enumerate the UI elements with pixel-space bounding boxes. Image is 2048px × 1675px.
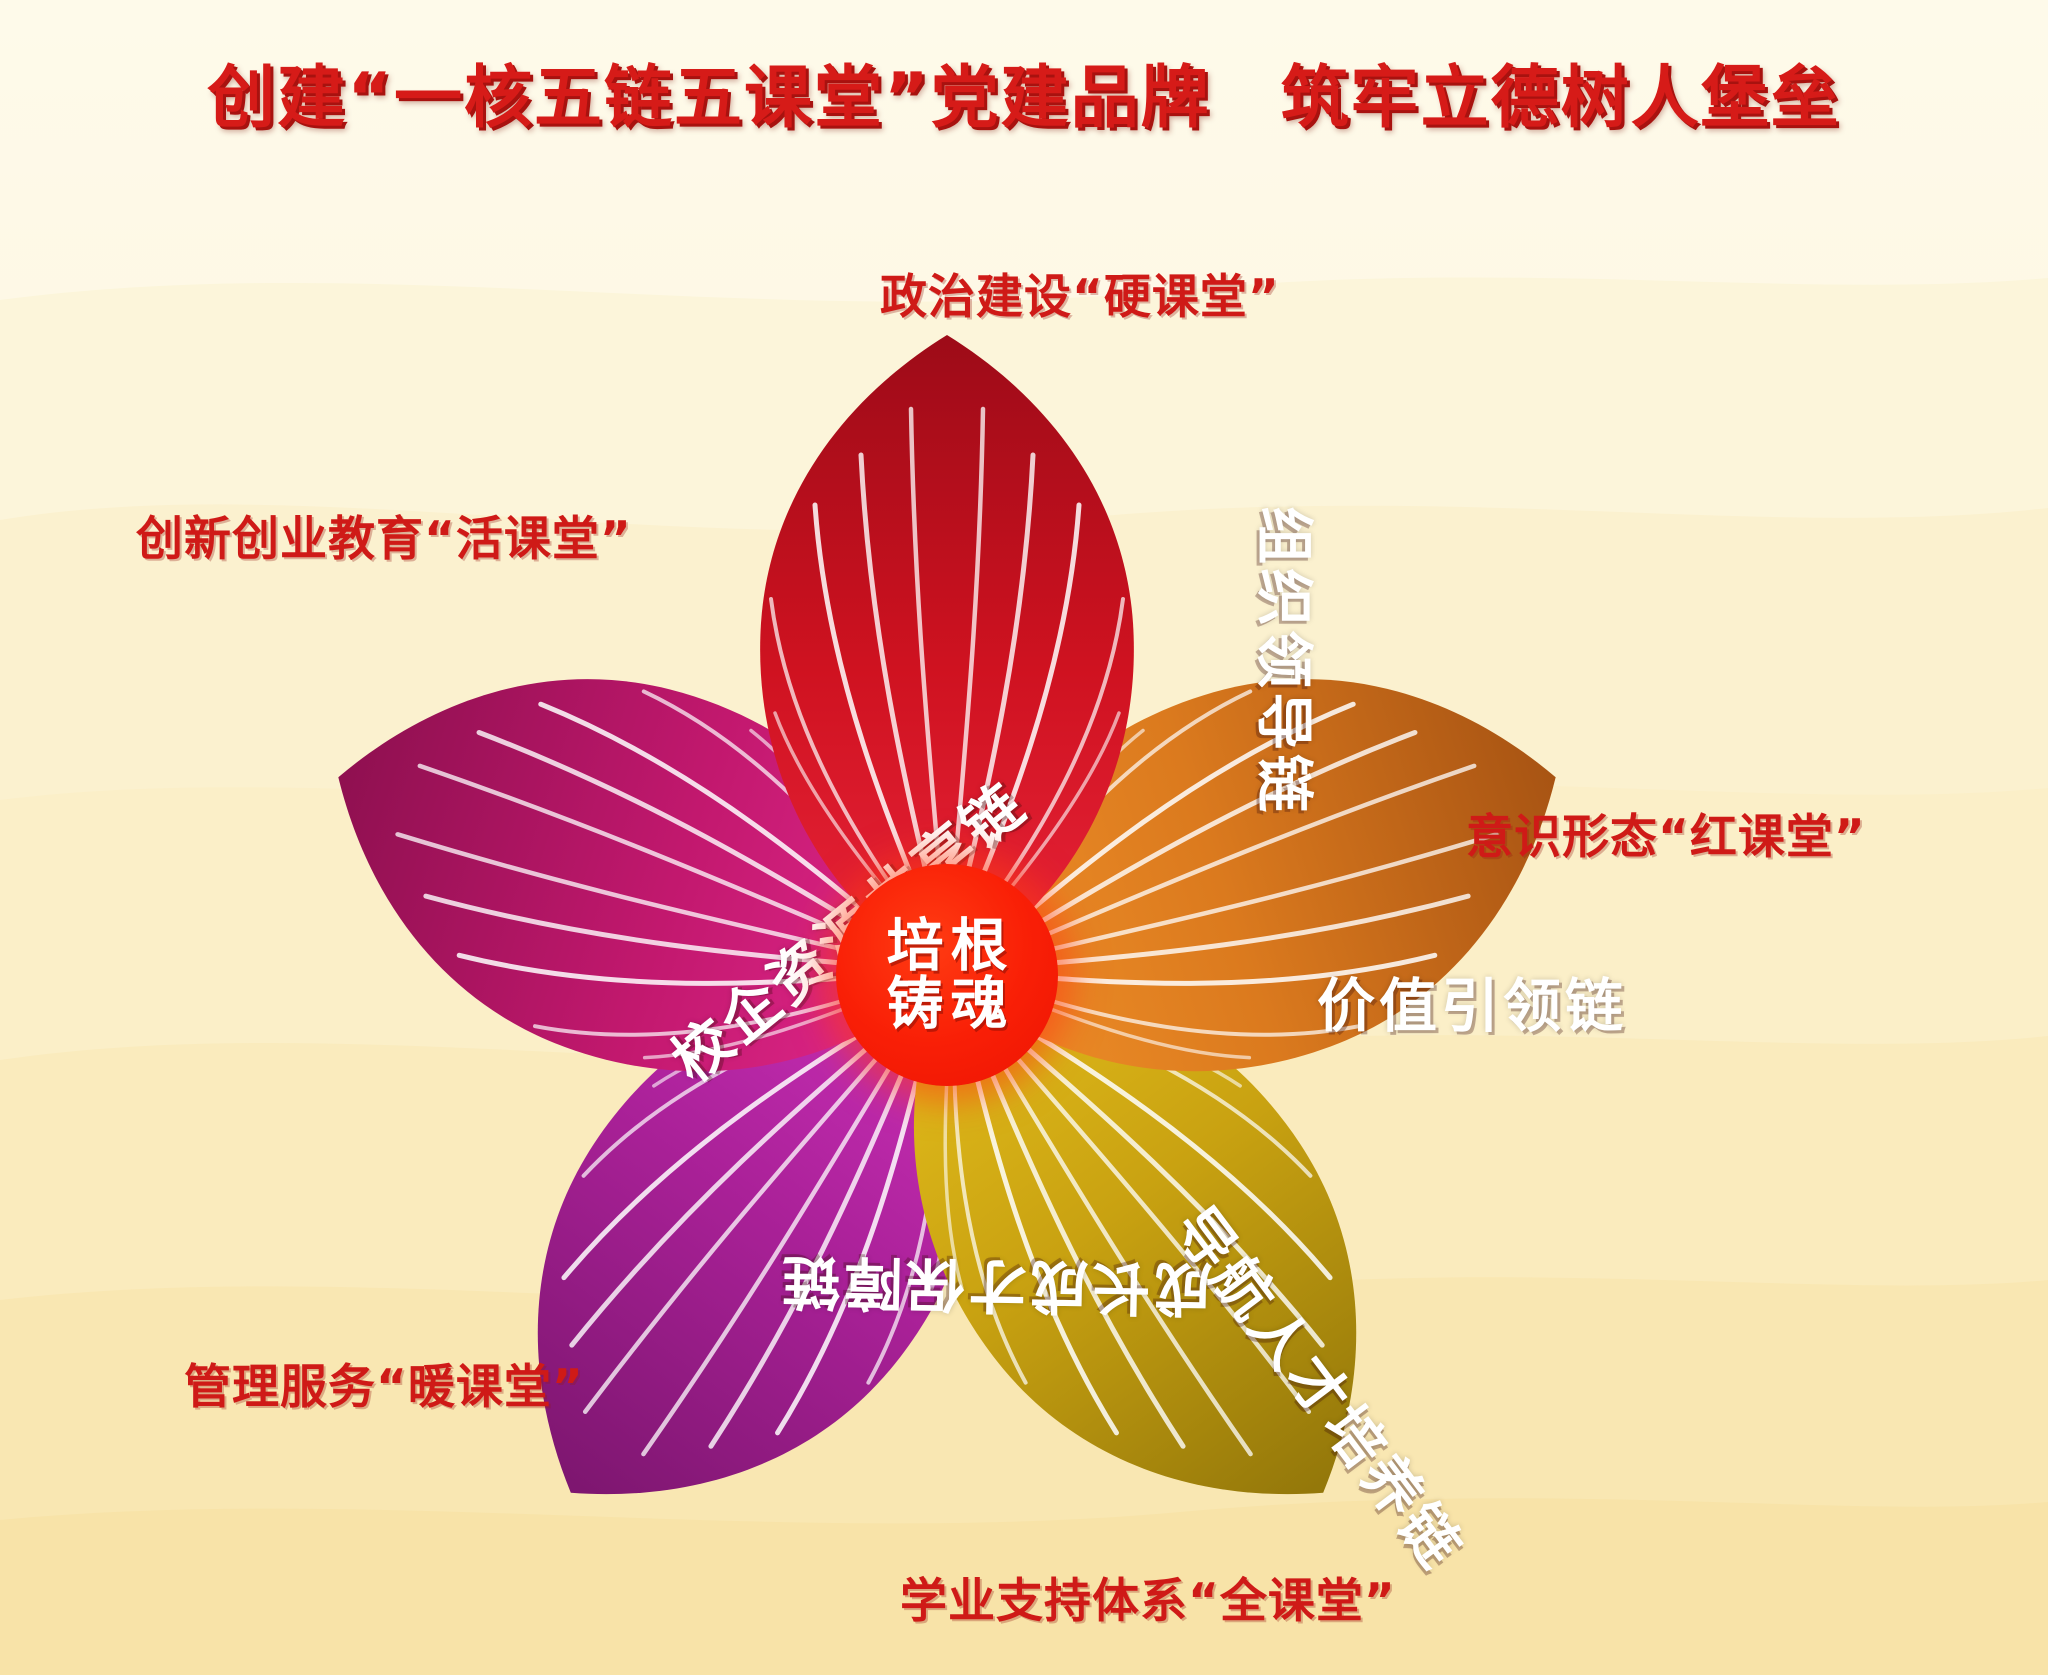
callout-label-upper-left: 创新创业教育“活课堂” (136, 500, 632, 569)
page-title: 创建“一核五链五课堂”党建品牌 筑牢立德树人堡垒 (207, 42, 1840, 141)
poster-root: 创建“一核五链五课堂”党建品牌 筑牢立德树人堡垒 (0, 0, 2048, 1675)
callout-label-right: 意识形态“红课堂” (1466, 798, 1866, 867)
callout-label-lower-left: 管理服务“暖课堂” (184, 1348, 584, 1417)
center-core[interactable]: 培根 铸魂 (836, 864, 1058, 1086)
callout-label-bottom: 学业支持体系“全课堂” (900, 1562, 1396, 1631)
title-bar: 创建“一核五链五课堂”党建品牌 筑牢立德树人堡垒 (0, 42, 2048, 141)
center-core-line2: 铸魂 (880, 975, 1015, 1033)
center-core-line1: 培根 (880, 917, 1015, 975)
callout-label-top: 政治建设“硬课堂” (880, 258, 1280, 327)
